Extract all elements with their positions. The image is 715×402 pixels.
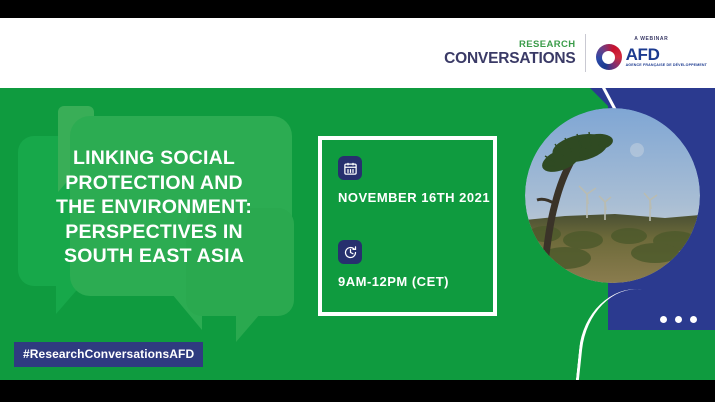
event-title: LINKING SOCIAL PROTECTION AND THE ENVIRO… [6,146,302,269]
hashtag-badge: #ResearchConversationsAFD [14,342,203,367]
afd-tagline: AGENCE FRANÇAISE DE DÉVELOPPEMENT [626,64,707,68]
brand-line-research: RESEARCH [519,40,576,50]
main-canvas: LINKING SOCIAL PROTECTION AND THE ENVIRO… [0,88,715,380]
title-line: SOUTH EAST ASIA [6,244,302,269]
title-line: LINKING SOCIAL [6,146,302,171]
dot-group-decor [660,316,697,323]
clock-icon [338,240,362,264]
afd-ring-logo-icon [596,44,622,70]
event-time-row: 9AM-12PM (CET) [338,240,449,289]
event-date-value: NOVEMBER 16TH 2021 [338,190,490,205]
afd-text-block: AFD AGENCE FRANÇAISE DE DÉVELOPPEMENT [626,46,707,68]
title-line: THE ENVIRONMENT: [6,195,302,220]
webinar-label: A WEBINAR [634,36,668,42]
dot-decor [660,316,667,323]
dot-decor [675,316,682,323]
calendar-icon [338,156,362,180]
event-time-value: 9AM-12PM (CET) [338,274,449,289]
slide-canvas: RESEARCH CONVERSATIONS A WEBINAR AFD AGE… [0,0,715,402]
letterbox-top [0,0,715,18]
afd-logo-row: AFD AGENCE FRANÇAISE DE DÉVELOPPEMENT [596,44,707,70]
header-logo-group: RESEARCH CONVERSATIONS A WEBINAR AFD AGE… [444,24,707,82]
dot-decor [690,316,697,323]
white-curve-line-decor [575,283,679,380]
speech-bubble-tail-d [236,314,260,342]
research-conversations-logo: RESEARCH CONVERSATIONS [444,40,584,66]
title-line: PERSPECTIVES IN [6,220,302,245]
event-details-box: NOVEMBER 16TH 2021 9AM-12PM (CET) [318,136,497,316]
title-line: PROTECTION AND [6,171,302,196]
afd-name: AFD [626,46,660,63]
letterbox-bottom [0,380,715,402]
brand-line-conversations: CONVERSATIONS [444,51,575,67]
event-date-row: NOVEMBER 16TH 2021 [338,156,490,205]
afd-logo-block: A WEBINAR AFD AGENCE FRANÇAISE DE DÉVELO… [586,36,707,70]
header-bar: RESEARCH CONVERSATIONS A WEBINAR AFD AGE… [0,18,715,88]
photo-tree-wind-turbines-icon [525,108,700,283]
